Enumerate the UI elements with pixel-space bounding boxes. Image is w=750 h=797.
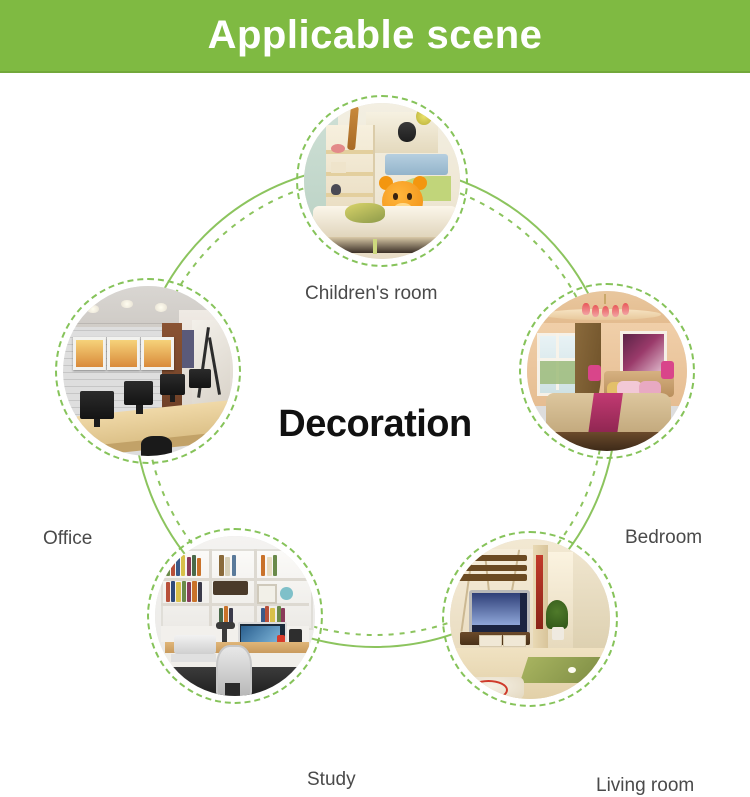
scene-node-children-room[interactable]: Children's room (296, 95, 468, 267)
scene-node-office[interactable]: Office (55, 278, 241, 464)
scene-label-office: Office (43, 528, 92, 550)
children-room-photo (304, 103, 460, 259)
office-photo (63, 286, 233, 456)
scene-label-bedroom: Bedroom (625, 527, 702, 549)
study-photo (155, 536, 315, 696)
scene-node-study[interactable]: Study (147, 528, 323, 704)
scene-label-children-room: Children's room (305, 283, 437, 305)
scene-node-living-room[interactable]: Living room (442, 531, 618, 707)
scene-label-living-room: Living room (596, 775, 694, 797)
living-room-photo (450, 539, 610, 699)
scene-node-bedroom[interactable]: Bedroom (519, 283, 695, 459)
scene-label-study: Study (307, 769, 356, 791)
bedroom-photo (527, 291, 687, 451)
page-header: Applicable scene (0, 0, 750, 73)
page-title: Applicable scene (0, 0, 750, 71)
scene-diagram: Decoration (0, 73, 750, 750)
